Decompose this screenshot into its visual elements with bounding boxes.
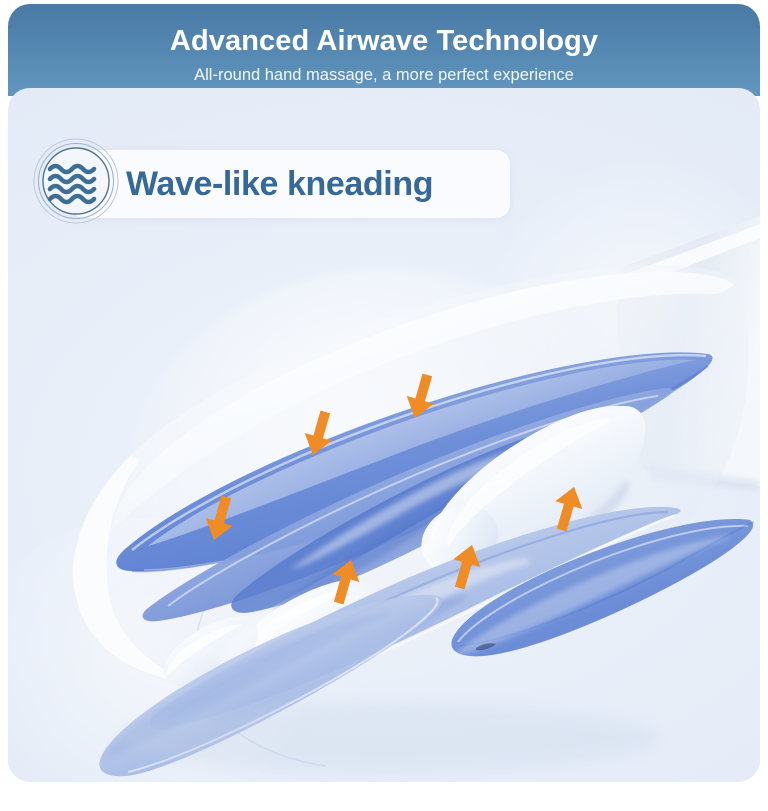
wave-icon [32, 137, 120, 225]
feature-badge-label: Wave-like kneading [126, 161, 433, 207]
page-title: Advanced Airwave Technology [8, 24, 760, 58]
page-subtitle: All-round hand massage, a more perfect e… [8, 64, 760, 86]
product-feature-page: Advanced Airwave Technology All-round ha… [0, 0, 768, 811]
header-banner: Advanced Airwave Technology All-round ha… [8, 4, 760, 96]
feature-card: Wave-like kneading [8, 88, 760, 782]
